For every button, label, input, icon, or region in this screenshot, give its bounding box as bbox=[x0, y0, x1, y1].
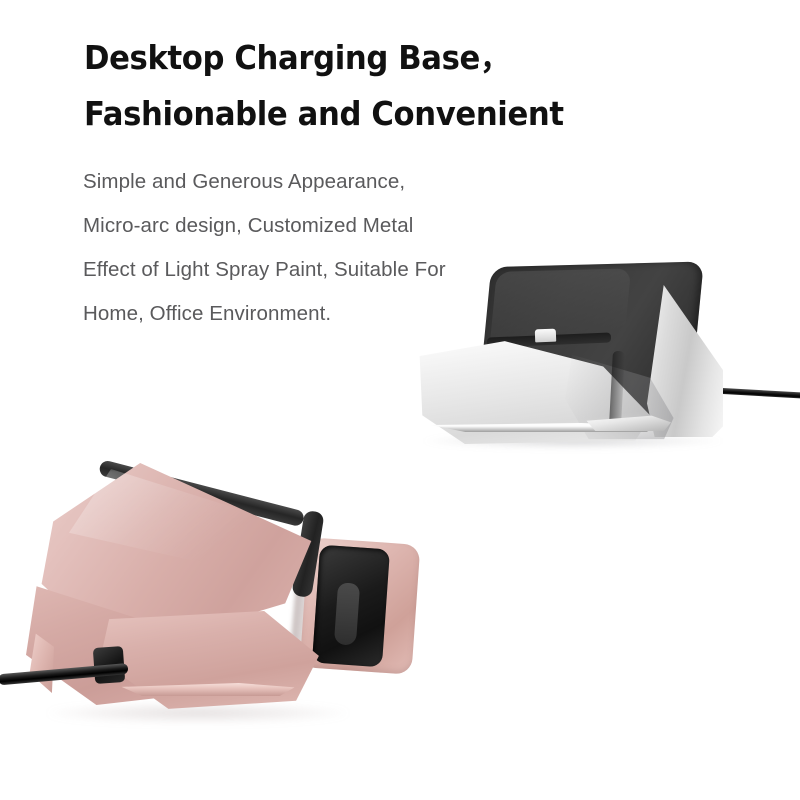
product-banner: Desktop Charging Base，Fashionable and Co… bbox=[0, 0, 800, 800]
description-line: Simple and Generous Appearance, bbox=[83, 160, 513, 204]
page-title: Desktop Charging Base，Fashionable and Co… bbox=[84, 30, 698, 142]
product-image-rose-gold-dock bbox=[8, 455, 428, 750]
dock-connector-tab bbox=[535, 329, 556, 343]
dock-connector-keyhole bbox=[334, 582, 360, 645]
description-line: Micro-arc design, Customized Metal bbox=[83, 204, 513, 248]
product-image-silver-dock bbox=[415, 265, 760, 480]
